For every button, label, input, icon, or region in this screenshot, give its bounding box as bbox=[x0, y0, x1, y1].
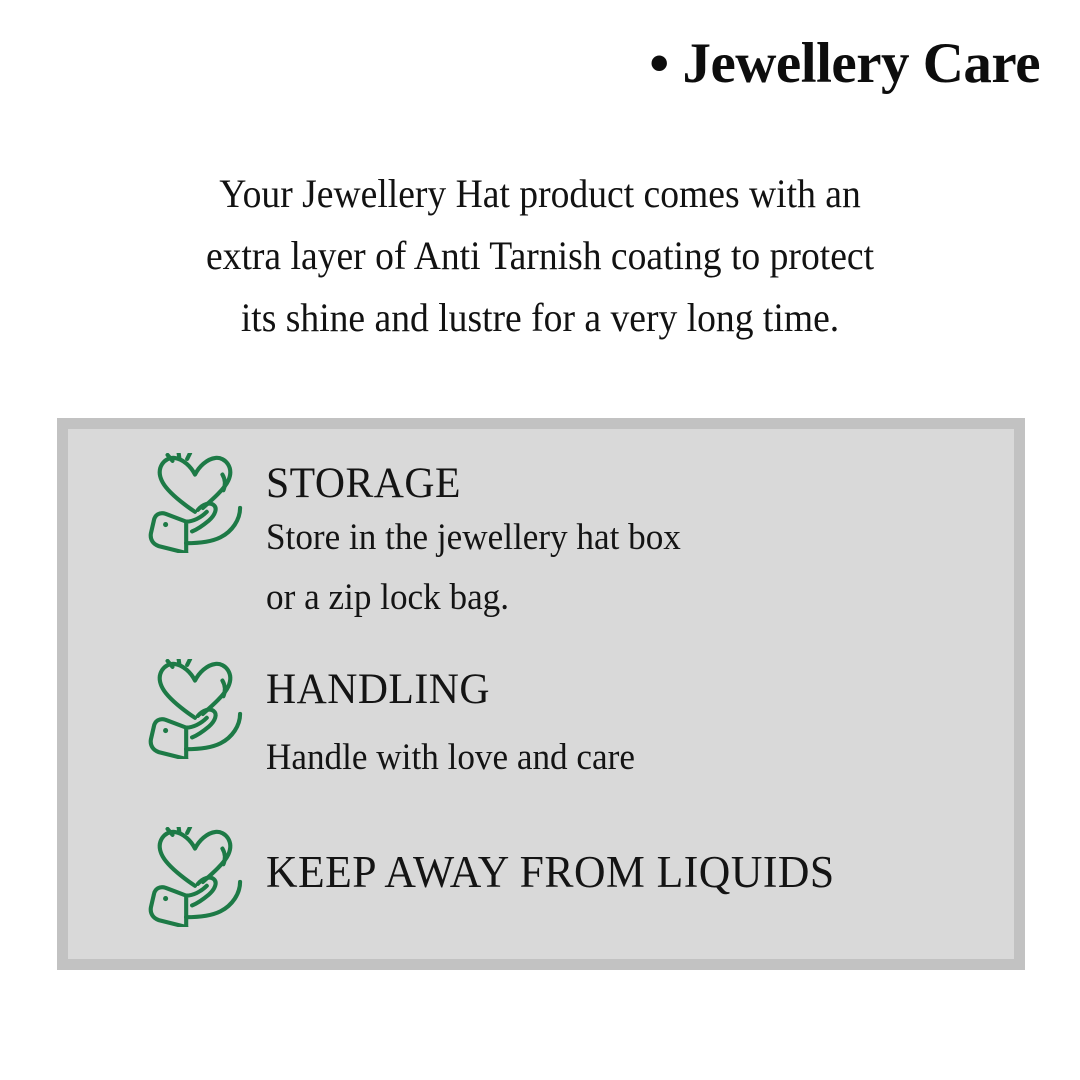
care-heading: HANDLING bbox=[266, 665, 643, 715]
intro-line-2: extra layer of Anti Tarnish coating to p… bbox=[98, 225, 982, 287]
care-item-keep-away-from-liquids: KEEP AWAY FROM LIQUIDS bbox=[146, 827, 852, 927]
care-heading: KEEP AWAY FROM LIQUIDS bbox=[266, 833, 835, 897]
care-instructions-list: STORAGE Store in the jewellery hat box o… bbox=[68, 429, 1014, 959]
intro-line-1: Your Jewellery Hat product comes with an bbox=[98, 163, 982, 225]
hand-heart-icon bbox=[146, 453, 244, 553]
hand-heart-icon bbox=[146, 659, 244, 759]
intro-paragraph: Your Jewellery Hat product comes with an… bbox=[98, 163, 982, 349]
intro-line-3: its shine and lustre for a very long tim… bbox=[98, 287, 982, 349]
care-item-text: KEEP AWAY FROM LIQUIDS bbox=[266, 827, 852, 897]
care-item-text: STORAGE Store in the jewellery hat box o… bbox=[266, 453, 703, 627]
care-desc-line-1: Store in the jewellery hat box bbox=[266, 509, 681, 567]
page-title: • Jewellery Care bbox=[40, 28, 1040, 99]
care-item-handling: HANDLING Handle with love and care bbox=[146, 659, 654, 787]
care-heading: STORAGE bbox=[266, 459, 690, 509]
care-item-text: HANDLING Handle with love and care bbox=[266, 659, 654, 787]
care-desc-line-2: or a zip lock bag. bbox=[266, 569, 681, 627]
care-instructions-box: STORAGE Store in the jewellery hat box o… bbox=[57, 418, 1025, 970]
care-item-storage: STORAGE Store in the jewellery hat box o… bbox=[146, 453, 703, 627]
care-desc-line-1: Handle with love and care bbox=[266, 729, 635, 787]
hand-heart-icon bbox=[146, 827, 244, 927]
